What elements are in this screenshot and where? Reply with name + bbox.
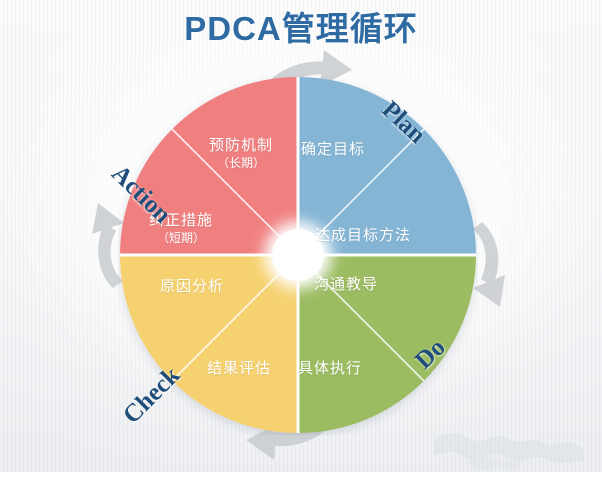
segment-label-action-1: 预防机制 （长期） (209, 137, 273, 171)
segment-label-check-2: 结果评估 (207, 360, 271, 379)
segment-label-plan-1: 确定目标 (301, 141, 365, 160)
segment-label-check-1: 原因分析 (160, 278, 224, 297)
page-title: PDCA管理循环 (0, 2, 602, 50)
segment-label-do-1: 沟通教导 (314, 276, 378, 295)
segment-label-plan-2: 达成目标方法 (315, 227, 411, 246)
segment-label-do-2: 具体执行 (298, 360, 362, 379)
